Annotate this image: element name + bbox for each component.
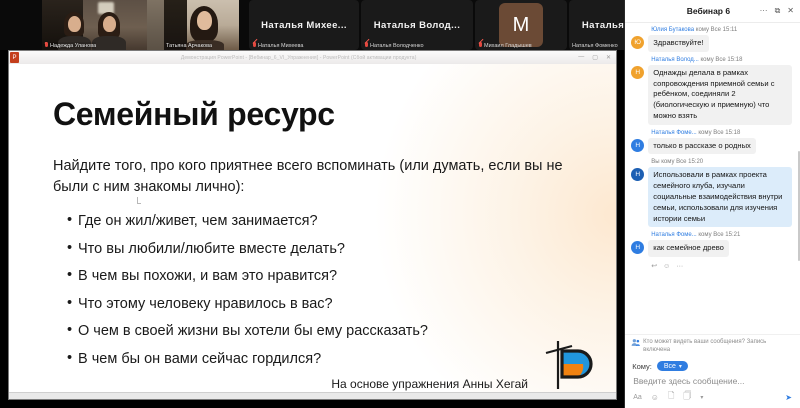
participant-display-name: Наталья Фоме... [582, 20, 624, 31]
participant-name: Татьяна Арчакова [166, 43, 212, 49]
chat-message-meta: Наталья Волод... кому Все 15:18 [651, 57, 794, 63]
chevron-down-icon: ▾ [679, 363, 682, 370]
participant-display-name: Наталья Михее... [261, 20, 347, 31]
chat-message-author: Наталья Фоме... [651, 232, 696, 238]
minimize-icon[interactable]: — [578, 54, 584, 61]
chat-message-recipient: кому Все [696, 27, 721, 33]
participant-name-text: Татьяна Арчакова [166, 43, 212, 49]
participant-name-text: Михаил Гладышев [484, 43, 532, 49]
chat-message-meta: Юлия Бутакова кому Все 15:11 [651, 27, 794, 33]
chat-message-recipient: кому Все [698, 232, 723, 238]
emoji-icon[interactable]: ☺ [651, 393, 659, 402]
mic-muted-icon [44, 42, 48, 49]
chat-message-bubble: Здравствуйте! [648, 35, 708, 52]
participant-tile-avatar[interactable]: M Михаил Гладышев [475, 0, 567, 50]
more-options-icon[interactable]: ▾ [700, 394, 703, 401]
chat-message: Наталья Фоме... кому Все 15:21 Н как сем… [631, 232, 794, 257]
avatar-initial: Ю [634, 39, 641, 46]
powerpoint-icon: P [10, 52, 19, 63]
participant-name-text: Наталья Фоменко [572, 43, 618, 49]
chat-recipient-selector: Кому: Все ▾ [625, 358, 800, 374]
app-root: Надежда Уланова Татьяна Арчакова [0, 0, 800, 408]
participant-filmstrip: Надежда Уланова Татьяна Арчакова [0, 0, 624, 50]
chat-message-time: 15:11 [723, 27, 738, 33]
close-icon[interactable]: ✕ [606, 54, 611, 61]
avatar-initial: Н [635, 244, 640, 251]
avatar: Н [631, 66, 644, 79]
participant-name: Наталья Фоменко [572, 43, 618, 49]
participant-tile-name-only[interactable]: Наталья Фоме... Наталья Фоменко [569, 0, 624, 50]
chat-message-bubble: Использовали в рамках проекта семейного … [648, 167, 792, 227]
slide-lead-text: Найдите того, про кого приятнее всего вс… [53, 156, 563, 197]
chat-message-recipient: кому Все [661, 159, 686, 165]
participant-tile-name-only[interactable]: Наталья Михее... Наталья Михеева [249, 0, 359, 50]
send-icon[interactable]: ➤ [785, 393, 792, 402]
chat-panel: Вебинар 6 ··· ⧉ ✕ Юлия Бутакова кому Все… [625, 0, 800, 408]
chat-recipient-value: Все [664, 363, 676, 370]
avatar: Н [631, 241, 644, 254]
chat-message-author: Вы [651, 159, 659, 165]
chat-message-time: 15:20 [688, 159, 703, 165]
participant-display-name: Наталья Волод... [374, 20, 461, 31]
letter-p-logo [532, 335, 598, 395]
window-controls: — ▢ ✕ [578, 54, 611, 61]
avatar: M [499, 3, 543, 47]
participant-name-text: Надежда Уланова [50, 43, 96, 49]
chat-message-bubble: как семейное древо [648, 240, 729, 257]
window-title: Демонстрация PowerPoint - [Вебинар_6_VI_… [19, 55, 578, 61]
chat-recipient-label: Кому: [632, 362, 652, 371]
chat-message-author: Наталья Фоме... [651, 130, 696, 136]
chat-message-meta: Наталья Фоме... кому Все 15:18 [651, 130, 794, 136]
slide-title: Семейный ресурс [53, 96, 335, 133]
mouse-cursor [137, 197, 141, 204]
chat-message-input[interactable]: Введите здесь сообщение... [633, 376, 744, 386]
participant-name: Наталья Володченко [364, 42, 424, 49]
slide-bullet: О чем в своей жизни вы хотели бы ему рас… [67, 324, 587, 339]
participant-tile-video[interactable]: Надежда Уланова [42, 0, 164, 50]
slide-bullet-list: Где он жил/живет, чем занимается? Что вы… [67, 214, 587, 379]
mic-muted-icon [364, 42, 368, 49]
restore-icon[interactable]: ▢ [592, 54, 598, 61]
slide-bullet: В чем вы похожи, и вам это нравится? [67, 269, 587, 284]
powerpoint-titlebar[interactable]: P Демонстрация PowerPoint - [Вебинар_6_V… [9, 51, 616, 65]
avatar-initial: Н [635, 171, 640, 178]
slide-bullet: Где он жил/живет, чем занимается? [67, 214, 587, 229]
participant-name: Надежда Уланова [44, 42, 96, 49]
close-icon[interactable]: ✕ [787, 7, 794, 15]
more-options-icon[interactable]: ··· [676, 263, 683, 270]
participant-name-text: Наталья Володченко [370, 43, 424, 49]
file-icon[interactable]: 🗋 [668, 390, 674, 404]
avatar-initial: Н [635, 142, 640, 149]
chat-message-recipient: кому Все [700, 57, 725, 63]
participant-tile-active-speaker[interactable]: Татьяна Арчакова [164, 0, 239, 50]
popout-icon[interactable]: ⧉ [775, 7, 781, 15]
chat-message: Юлия Бутакова кому Все 15:11 Ю Здравству… [631, 27, 794, 52]
chat-message-actions: ↩ ☺ ··· [651, 262, 794, 270]
slide-bullet: Что вы любили/любите вместе делать? [67, 242, 587, 257]
participant-name-text: Наталья Михеева [258, 43, 303, 49]
chat-message-bubble: только в рассказе о родных [648, 138, 756, 155]
slide-bullet: В чем бы он вами сейчас гордился? [67, 352, 587, 367]
chat-message-time: 15:21 [725, 232, 740, 238]
chat-recipient-dropdown[interactable]: Все ▾ [657, 361, 688, 371]
avatar: Н [631, 168, 644, 181]
avatar: Ю [631, 36, 644, 49]
powerpoint-window: P Демонстрация PowerPoint - [Вебинар_6_V… [8, 50, 617, 400]
chat-header: Вебинар 6 ··· ⧉ ✕ [625, 0, 800, 23]
participant-tile-name-only[interactable]: Наталья Волод... Наталья Володченко [361, 0, 473, 50]
mic-muted-icon [478, 42, 482, 49]
more-options-icon[interactable]: ··· [760, 7, 768, 15]
attachment-icon[interactable]: 🗍 [683, 390, 691, 404]
chat-header-actions: ··· ⧉ ✕ [760, 7, 794, 15]
chat-privacy-notice-text: Кто может видеть ваши сообщения? Запись … [643, 338, 794, 354]
reaction-icon[interactable]: ☺ [663, 263, 670, 270]
avatar-initial: Н [635, 69, 640, 76]
slide-bullet: Что этому человеку нравилось в вас? [67, 297, 587, 312]
chat-input-wrapper[interactable]: Введите здесь сообщение... [625, 374, 800, 386]
chat-message-meta: Наталья Фоме... кому Все 15:21 [651, 232, 794, 238]
chat-message-bubble: Однажды делала в рамках сопровождения пр… [648, 65, 792, 125]
avatar: Н [631, 139, 644, 152]
participant-name: Наталья Михеева [252, 42, 303, 49]
chat-message-meta: Вы кому Все 15:20 [651, 159, 794, 165]
participant-name: Михаил Гладышев [478, 42, 532, 49]
chat-privacy-notice: Кто может видеть ваши сообщения? Запись … [625, 334, 800, 358]
chat-message-author: Юлия Бутакова [651, 27, 694, 33]
slide-credit: На основе упражнения Анны Хегай [331, 377, 528, 391]
reply-icon[interactable]: ↩ [651, 262, 657, 270]
powerpoint-status-strip [9, 392, 616, 399]
chat-title: Вебинар 6 [631, 6, 759, 16]
chat-message-time: 15:18 [727, 57, 742, 63]
avatar-initial: M [513, 14, 530, 37]
chat-message: Вы кому Все 15:20 Н Использовали в рамка… [631, 159, 794, 227]
meeting-area: Надежда Уланова Татьяна Арчакова [0, 0, 624, 408]
mic-muted-icon [252, 42, 256, 49]
chat-message: Наталья Волод... кому Все 15:18 Н Однажд… [631, 57, 794, 125]
chat-message-list[interactable]: Юлия Бутакова кому Все 15:11 Ю Здравству… [625, 23, 800, 334]
chat-message-time: 15:18 [725, 130, 740, 136]
slide-canvas: Семейный ресурс Найдите того, про кого п… [9, 64, 616, 399]
chat-message-recipient: кому Все [698, 130, 723, 136]
chat-message-author: Наталья Волод... [651, 57, 699, 63]
format-text-icon[interactable]: Aa [633, 394, 642, 401]
people-icon [631, 338, 640, 347]
chat-message: Наталья Фоме... кому Все 15:18 Н только … [631, 130, 794, 155]
chat-toolbar: Aa ☺ 🗋 🗍 ▾ ➤ [625, 386, 800, 408]
